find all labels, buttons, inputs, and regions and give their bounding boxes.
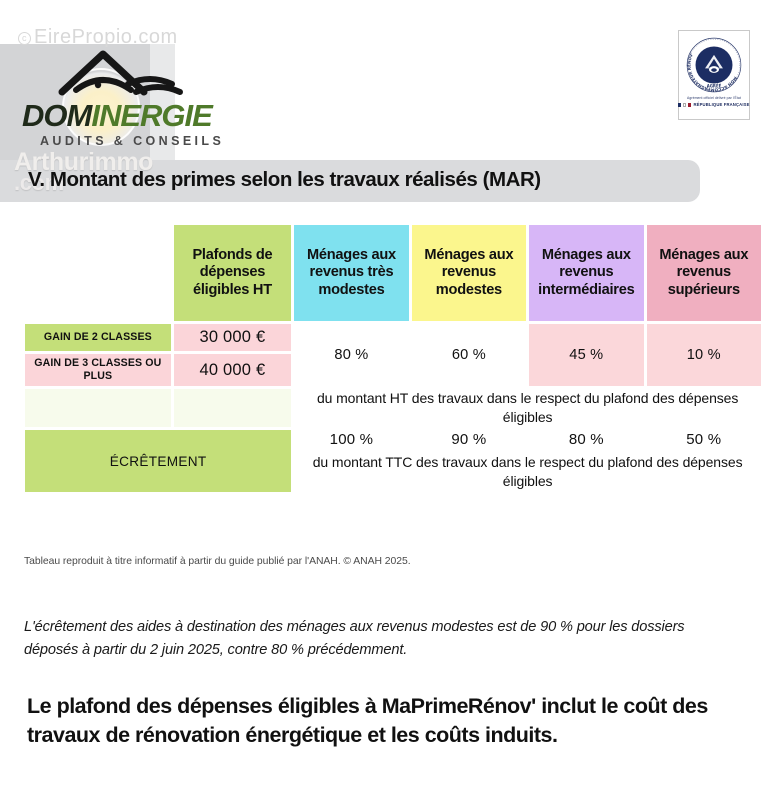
anah-accreditation-badge: MON ACCOMPAGNATEUR RÉNOV' AGRÉÉ Agrément…	[678, 30, 750, 120]
row-label-gain-2-classes: GAIN DE 2 CLASSES	[25, 324, 171, 351]
dominergie-logo: DOMINERGIE AUDITS & CONSEILS	[10, 40, 240, 150]
plafond-scope-note: Le plafond des dépenses éligibles à MaPr…	[27, 692, 733, 749]
page-title: V. Montant des primes selon les travaux …	[28, 168, 541, 192]
mon-accompagnateur-renov-seal-icon: MON ACCOMPAGNATEUR RÉNOV' AGRÉÉ	[686, 37, 742, 93]
header-plafonds-depenses: Plafonds de dépenses éligibles HT	[174, 225, 292, 321]
table-row-ecretement-percentages: ÉCRÊTEMENT 100 % 90 % 80 % 50 %	[25, 430, 761, 448]
prime-ht-intermediaires: 45 %	[529, 324, 643, 386]
document-page: cEirePropio.com DOMINERGIE AUDITS & CONS…	[0, 0, 778, 800]
flag-blue-bar-icon	[678, 103, 681, 107]
table-source-note: Tableau reproduit à titre informatif à p…	[24, 556, 411, 567]
header-corner-empty	[25, 225, 171, 321]
plafond-gain-3-classes: 40 000 €	[174, 354, 292, 386]
plafond-gain-2-classes: 30 000 €	[174, 324, 292, 351]
anah-caption-line2-text: RÉPUBLIQUE FRANÇAISE	[693, 102, 749, 107]
ecretement-intermediaires: 80 %	[529, 430, 643, 448]
row-label-ecretement: ÉCRÊTEMENT	[25, 430, 291, 492]
logo-wordmark: DOMINERGIE	[22, 98, 212, 134]
logo-wordmark-dark: DOM	[22, 98, 91, 133]
note-montant-ttc: du montant TTC des travaux dans le respe…	[294, 451, 761, 492]
ecretement-modestes: 90 %	[412, 430, 526, 448]
logo-wordmark-green: INERGIE	[91, 98, 211, 133]
header-menages-superieurs: Ménages aux revenus supérieurs	[647, 225, 761, 321]
row-label-gain-3-classes: GAIN DE 3 CLASSES OU PLUS	[25, 354, 171, 386]
table-row-gain-2-classes: GAIN DE 2 CLASSES 30 000 € 80 % 60 % 45 …	[25, 324, 761, 351]
note-montant-ht: du montant HT des travaux dans le respec…	[294, 389, 761, 427]
svg-text:AGRÉÉ: AGRÉÉ	[707, 83, 722, 88]
logo-tagline: AUDITS & CONSEILS	[40, 134, 224, 148]
header-menages-modestes: Ménages aux revenus modestes	[412, 225, 526, 321]
ecretement-superieurs: 50 %	[647, 430, 761, 448]
flag-white-bar-icon	[683, 103, 686, 107]
header-menages-tres-modestes: Ménages aux revenus très modestes	[294, 225, 408, 321]
prime-ht-tres-modestes: 80 %	[294, 324, 408, 386]
prime-ht-modestes: 60 %	[412, 324, 526, 386]
anah-caption-line2: RÉPUBLIQUE FRANÇAISE	[678, 102, 749, 107]
table-row-note-ht: du montant HT des travaux dans le respec…	[25, 389, 761, 427]
table-header-row: Plafonds de dépenses éligibles HT Ménage…	[25, 225, 761, 321]
anah-caption-line1: Agrément officiel délivré par l'État	[687, 96, 741, 100]
flag-red-bar-icon	[688, 103, 691, 107]
ecretement-update-note: L'écrêtement des aides à destination des…	[24, 616, 714, 661]
cream-spacer-label	[25, 389, 171, 427]
primes-table-container: Plafonds de dépenses éligibles HT Ménage…	[0, 222, 778, 495]
primes-table: Plafonds de dépenses éligibles HT Ménage…	[22, 222, 764, 495]
header-menages-intermediaires: Ménages aux revenus intermédiaires	[529, 225, 643, 321]
cream-spacer-plafond	[174, 389, 292, 427]
prime-ht-superieurs: 10 %	[647, 324, 761, 386]
ecretement-tres-modestes: 100 %	[294, 430, 408, 448]
